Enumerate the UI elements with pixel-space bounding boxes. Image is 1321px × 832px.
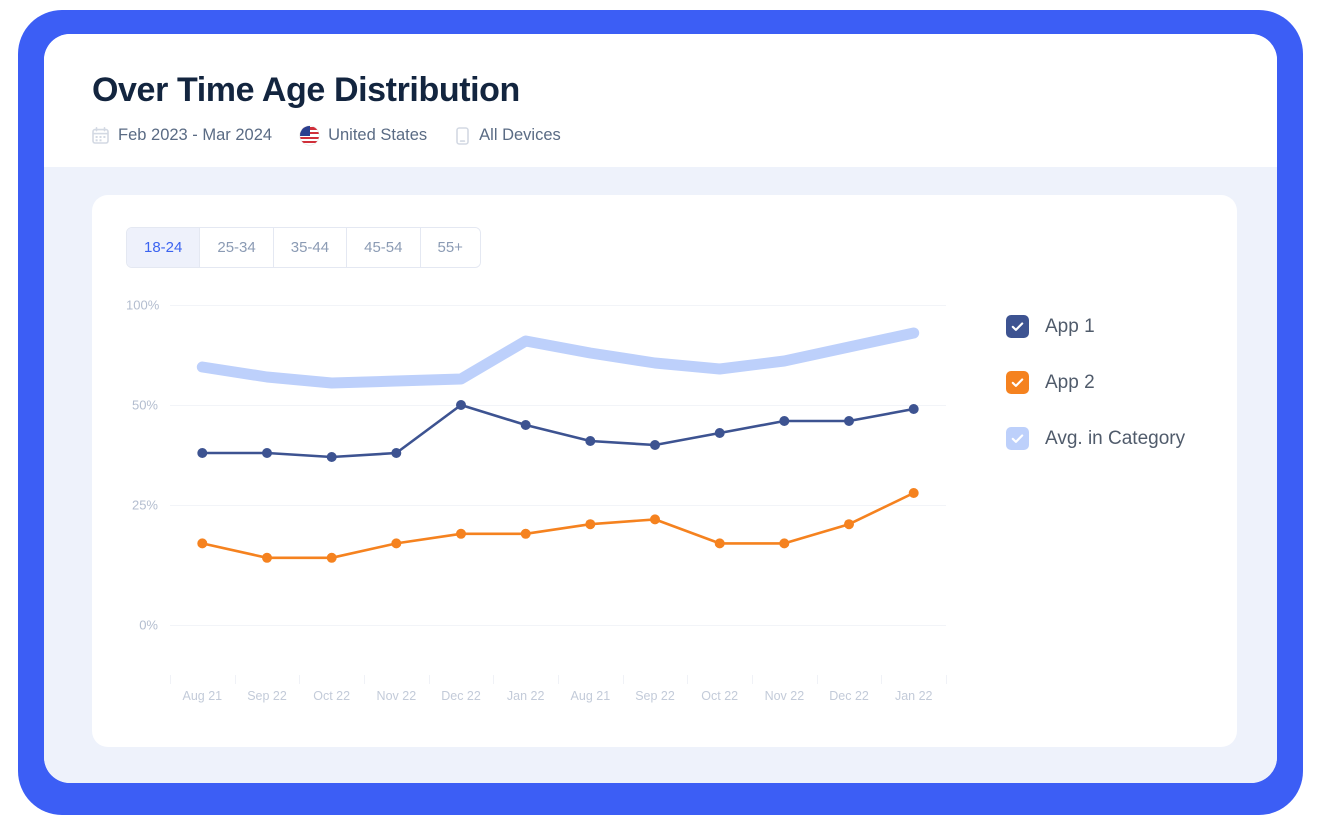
x-axis-label: Oct 22	[687, 689, 752, 703]
x-axis-label: Nov 22	[752, 689, 817, 703]
meta-devices-label: All Devices	[479, 126, 561, 145]
x-tick	[623, 675, 624, 684]
meta-date-range-label: Feb 2023 - Mar 2024	[118, 126, 272, 145]
x-tick	[235, 675, 236, 684]
y-axis-label: 25%	[126, 498, 162, 513]
x-tick	[881, 675, 882, 684]
x-axis-label: Jan 22	[881, 689, 946, 703]
chart-legend[interactable]: App 1App 2Avg. in Category	[1006, 315, 1185, 450]
x-axis-label: Dec 22	[817, 689, 882, 703]
x-axis-label: Aug 21	[558, 689, 623, 703]
x-axis-label: Sep 22	[235, 689, 300, 703]
meta-devices[interactable]: All Devices	[455, 126, 561, 145]
data-point[interactable]	[585, 519, 595, 529]
x-axis-labels: Aug 21Sep 22Oct 22Nov 22Dec 22Jan 22Aug …	[170, 689, 946, 703]
x-tick	[558, 675, 559, 684]
tab-age-25-34[interactable]: 25-34	[200, 228, 273, 267]
x-tick	[170, 675, 171, 684]
data-point[interactable]	[844, 416, 854, 426]
legend-label: Avg. in Category	[1045, 428, 1185, 450]
data-point[interactable]	[650, 514, 660, 524]
y-axis-label: 0%	[126, 618, 162, 633]
series-line-avg-in-category	[202, 333, 913, 383]
legend-label: App 2	[1045, 372, 1095, 394]
tab-age-55plus[interactable]: 55+	[421, 228, 480, 267]
tab-age-18-24[interactable]: 18-24	[127, 228, 200, 267]
data-point[interactable]	[650, 440, 660, 450]
data-point[interactable]	[585, 436, 595, 446]
x-axis-label: Sep 22	[623, 689, 688, 703]
page-title: Over Time Age Distribution	[92, 68, 1277, 112]
x-axis-label: Dec 22	[429, 689, 494, 703]
meta-country-label: United States	[328, 126, 427, 145]
x-axis-label: Nov 22	[364, 689, 429, 703]
data-point[interactable]	[715, 428, 725, 438]
x-axis-ticks	[170, 675, 946, 684]
app-card: Over Time Age Distribution	[44, 34, 1277, 783]
checkbox-app-2[interactable]	[1006, 371, 1029, 394]
chart-card: 18-2425-3435-4445-5455+ 0%25%50%100%Aug …	[92, 195, 1237, 747]
checkbox-avg-in-category[interactable]	[1006, 427, 1029, 450]
meta-date-range[interactable]: Feb 2023 - Mar 2024	[92, 126, 272, 145]
series-line-app-2	[202, 493, 913, 558]
x-tick	[299, 675, 300, 684]
data-point[interactable]	[909, 404, 919, 414]
data-point[interactable]	[262, 553, 272, 563]
x-tick	[687, 675, 688, 684]
data-point[interactable]	[391, 448, 401, 458]
data-point[interactable]	[909, 488, 919, 498]
body: 18-2425-3435-4445-5455+ 0%25%50%100%Aug …	[44, 167, 1277, 783]
header-meta-row: Feb 2023 - Mar 2024 United States	[92, 126, 1277, 145]
data-point[interactable]	[197, 448, 207, 458]
data-point[interactable]	[262, 448, 272, 458]
series-line-app-1	[202, 405, 913, 457]
x-axis-label: Oct 22	[299, 689, 364, 703]
legend-item-app-2[interactable]: App 2	[1006, 371, 1185, 394]
x-tick	[752, 675, 753, 684]
x-tick	[429, 675, 430, 684]
x-axis-label: Aug 21	[170, 689, 235, 703]
data-point[interactable]	[456, 400, 466, 410]
data-point[interactable]	[456, 529, 466, 539]
data-point[interactable]	[715, 538, 725, 548]
device-icon	[455, 127, 470, 145]
data-point[interactable]	[197, 538, 207, 548]
x-axis-label: Jan 22	[493, 689, 558, 703]
data-point[interactable]	[521, 529, 531, 539]
x-tick	[946, 675, 947, 684]
tab-age-35-44[interactable]: 35-44	[274, 228, 347, 267]
y-axis-label: 100%	[126, 298, 162, 313]
meta-country[interactable]: United States	[300, 126, 427, 145]
data-point[interactable]	[327, 452, 337, 462]
checkbox-app-1[interactable]	[1006, 315, 1029, 338]
y-axis-label: 50%	[126, 398, 162, 413]
legend-item-avg-in-category[interactable]: Avg. in Category	[1006, 427, 1185, 450]
tab-age-45-54[interactable]: 45-54	[347, 228, 420, 267]
flag-us-icon	[300, 126, 319, 145]
chart-series	[170, 305, 946, 675]
screen: Over Time Age Distribution	[0, 0, 1321, 832]
data-point[interactable]	[844, 519, 854, 529]
plot: 0%25%50%100%Aug 21Sep 22Oct 22Nov 22Dec …	[126, 305, 946, 675]
x-tick	[493, 675, 494, 684]
legend-label: App 1	[1045, 316, 1095, 338]
data-point[interactable]	[327, 553, 337, 563]
calendar-icon	[92, 127, 109, 144]
data-point[interactable]	[391, 538, 401, 548]
legend-item-app-1[interactable]: App 1	[1006, 315, 1185, 338]
plot-area: 0%25%50%100%Aug 21Sep 22Oct 22Nov 22Dec …	[126, 305, 1236, 783]
data-point[interactable]	[521, 420, 531, 430]
x-tick	[817, 675, 818, 684]
data-point[interactable]	[779, 538, 789, 548]
header: Over Time Age Distribution	[44, 34, 1277, 167]
x-tick	[364, 675, 365, 684]
data-point[interactable]	[779, 416, 789, 426]
age-group-tabs[interactable]: 18-2425-3435-4445-5455+	[126, 227, 481, 268]
